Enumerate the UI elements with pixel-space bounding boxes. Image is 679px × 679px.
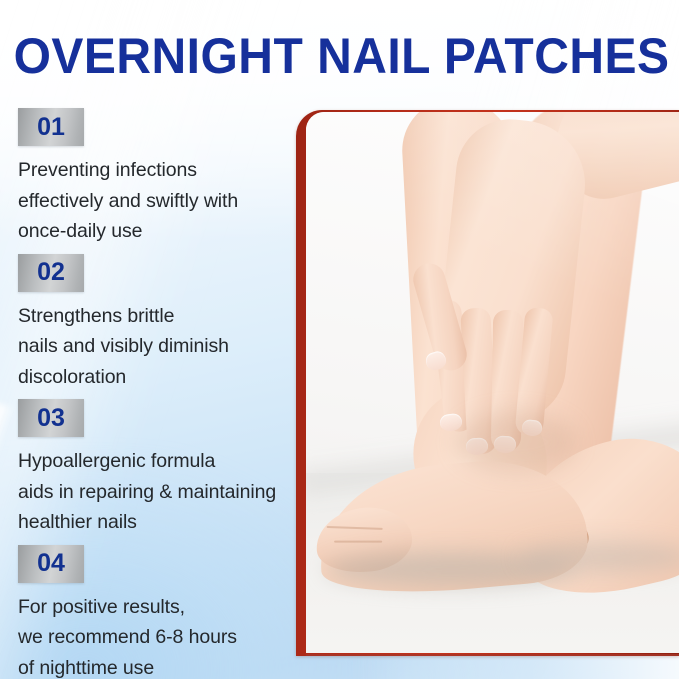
feature-badge-02: 02 xyxy=(18,254,84,292)
feature-number-01: 01 xyxy=(37,115,65,140)
feature-item-02: 02 Strengthens brittle nails and visibly… xyxy=(18,254,296,393)
feature-item-03: 03 Hypoallergenic formula aids in repair… xyxy=(18,399,296,538)
feature-item-04: 04 For positive results, we recommend 6-… xyxy=(18,545,296,679)
feature-number-04: 04 xyxy=(37,551,65,576)
feature-text-03: Hypoallergenic formula aids in repairing… xyxy=(18,446,296,538)
product-photo-panel xyxy=(296,110,679,656)
feature-badge-04: 04 xyxy=(18,545,84,583)
panel-bottom-line xyxy=(306,654,679,656)
feature-badge-03: 03 xyxy=(18,399,84,437)
feature-text-04: For positive results, we recommend 6-8 h… xyxy=(18,592,296,679)
feature-text-01: Preventing infections effectively and sw… xyxy=(18,155,296,247)
feature-item-01: 01 Preventing infections effectively and… xyxy=(18,108,296,247)
panel-inner xyxy=(306,112,679,653)
feature-number-02: 02 xyxy=(37,260,65,285)
feature-text-02: Strengthens brittle nails and visibly di… xyxy=(18,301,296,393)
page-title: OVERNIGHT NAIL PATCHES xyxy=(14,29,666,83)
back-foot-shadow xyxy=(520,542,679,572)
hand-shadow xyxy=(456,412,576,472)
toe-crease xyxy=(327,526,383,530)
product-infographic: OVERNIGHT NAIL PATCHES 01 Preventing inf… xyxy=(0,0,679,679)
feet-and-hand-photo xyxy=(306,112,679,653)
feature-badge-01: 01 xyxy=(18,108,84,146)
feature-list: 01 Preventing infections effectively and… xyxy=(18,108,296,679)
feature-number-03: 03 xyxy=(37,406,65,431)
toe-crease xyxy=(334,541,382,543)
